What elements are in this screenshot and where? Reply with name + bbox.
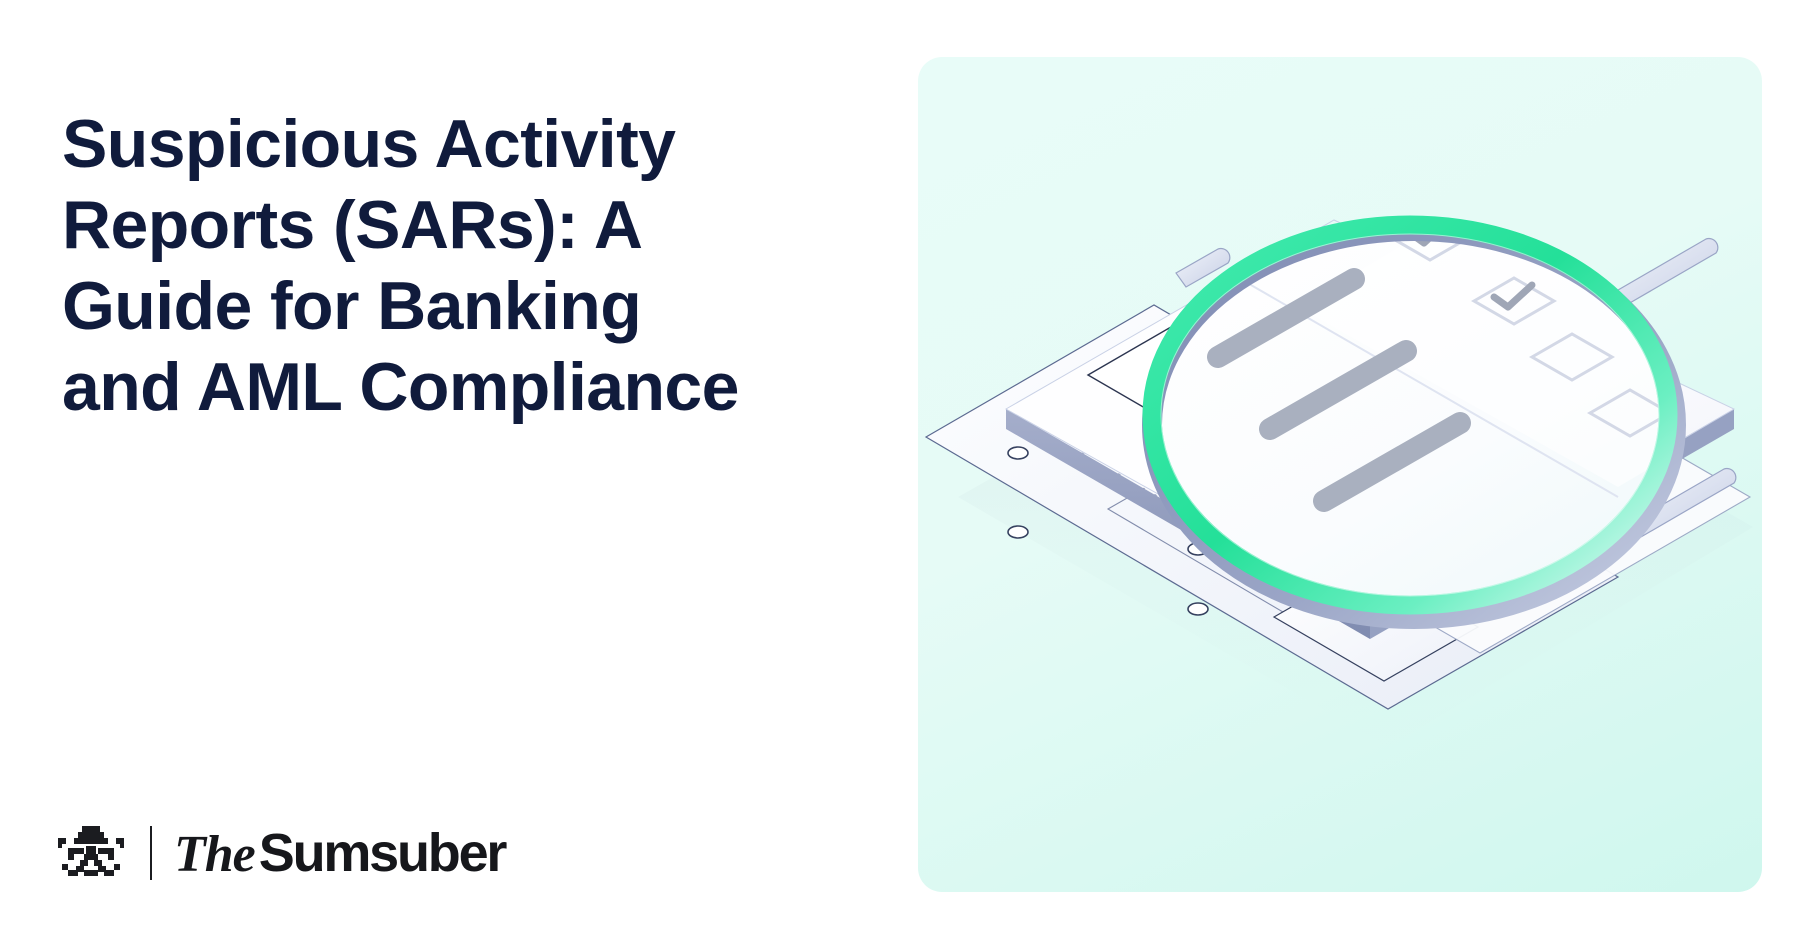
brand-divider (150, 826, 152, 880)
poster-canvas: Suspicious Activity Reports (SARs): A Gu… (0, 0, 1800, 945)
sumsub-pixel-robot-icon (56, 824, 128, 882)
page-title: Suspicious Activity Reports (SARs): A Gu… (62, 104, 822, 428)
brand-lockup: The Sumsuber (56, 818, 505, 888)
brand-wordmark: The Sumsuber (174, 826, 505, 881)
brand-name-text: Sumsuber (259, 826, 505, 880)
illustration-panel: SAR (918, 57, 1762, 892)
sar-document-illustration: SAR (918, 57, 1762, 892)
brand-the-text: The (174, 829, 255, 881)
title-column: Suspicious Activity Reports (SARs): A Gu… (0, 0, 900, 945)
